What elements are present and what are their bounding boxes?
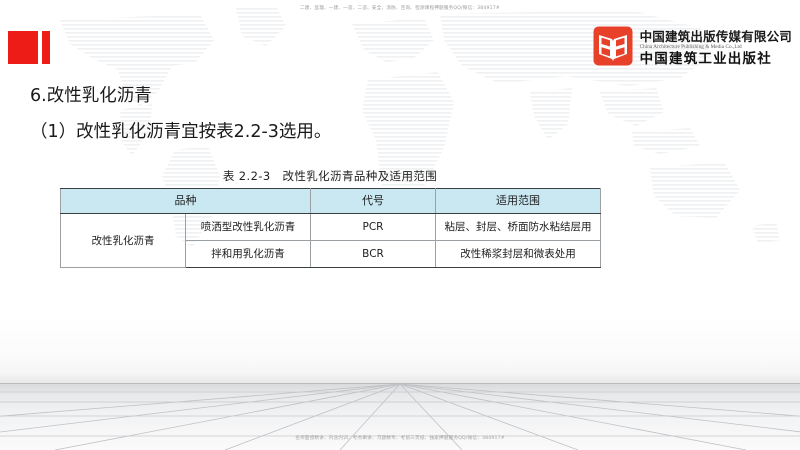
table-body: 改性乳化沥青 喷洒型改性乳化沥青 PCR 粘层、封层、桥面防水粘结层用 拌和用乳… xyxy=(61,214,601,268)
red-accent-block-small xyxy=(42,31,50,64)
table-header-scope: 适用范围 xyxy=(436,189,601,214)
publisher-company-name-cn: 中国建筑出版传媒有限公司 xyxy=(640,30,792,44)
table-caption: 表 2.2-3 改性乳化沥青品种及适用范围 xyxy=(60,168,600,184)
open-book-emblem-icon xyxy=(593,26,633,71)
table-cell-scope: 改性稀浆封层和微表处用 xyxy=(436,241,601,268)
table-header-row: 品种 代号 适用范围 xyxy=(61,189,601,214)
publisher-logo: 中国建筑出版传媒有限公司 China Architecture Publishi… xyxy=(593,26,792,71)
top-watermark-text: 二建、监理、一建、一造、二造、安全、消防、咨询、检测课程押题服务QQ/微信：38… xyxy=(0,5,800,12)
publisher-imprint-name-cn: 中国建筑工业出版社 xyxy=(640,51,792,67)
table-cell-group-label: 改性乳化沥青 xyxy=(61,214,186,268)
section-heading: 6.改性乳化沥青 xyxy=(30,84,152,108)
table-head: 品种 代号 适用范围 xyxy=(61,189,601,214)
presentation-slide: 二建、监理、一建、一造、二造、安全、消防、咨询、检测课程押题服务QQ/微信：38… xyxy=(0,0,800,450)
table-cell-variety: 喷洒型改性乳化沥青 xyxy=(186,214,311,241)
bottom-watermark-text: 名师面授精讲、内含内训、考点串讲、习题精专、考前三页纸、独家押题服务QQ/微信：… xyxy=(0,435,800,442)
table-cell-scope: 粘层、封层、桥面防水粘结层用 xyxy=(436,214,601,241)
spec-table-container: 表 2.2-3 改性乳化沥青品种及适用范围 品种 代号 适用范围 改性乳化沥青 … xyxy=(60,168,600,268)
publisher-company-name-en: China Architecture Publishing & Media Co… xyxy=(640,44,792,51)
table-header-code: 代号 xyxy=(311,189,436,214)
table-cell-code: BCR xyxy=(311,241,436,268)
red-accent-block-large xyxy=(8,31,38,64)
table-header-variety: 品种 xyxy=(61,189,311,214)
table-cell-variety: 拌和用乳化沥青 xyxy=(186,241,311,268)
table-row: 改性乳化沥青 喷洒型改性乳化沥青 PCR 粘层、封层、桥面防水粘结层用 xyxy=(61,214,601,241)
publisher-logo-text: 中国建筑出版传媒有限公司 China Architecture Publishi… xyxy=(640,30,792,67)
table-cell-code: PCR xyxy=(311,214,436,241)
asphalt-variety-table: 品种 代号 适用范围 改性乳化沥青 喷洒型改性乳化沥青 PCR 粘层、封层、桥面… xyxy=(60,188,601,268)
section-subline: （1）改性乳化沥青宜按表2.2-3选用。 xyxy=(30,120,331,144)
